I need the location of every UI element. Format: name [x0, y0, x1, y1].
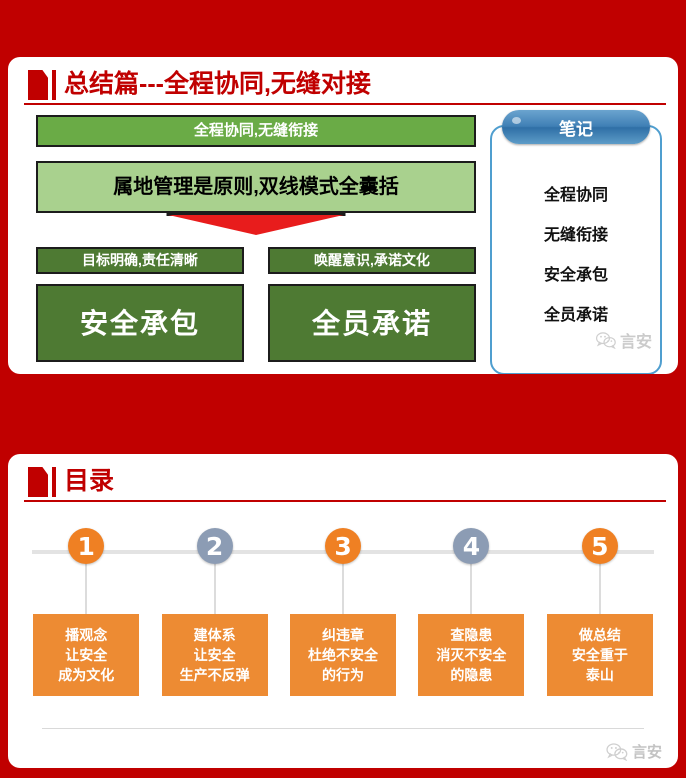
down-arrow-icon	[36, 213, 476, 241]
toc-label-box: 播观念 让安全 成为文化	[33, 614, 139, 696]
slide-toc-panel: 目录 1 播观念 让安全 成为文化	[8, 454, 678, 768]
slide-summary-panel: 总结篇---全程协同,无缝对接 全程协同,无缝衔接 属地管理是原则,双线模式全囊…	[8, 57, 678, 374]
watermark-text: 言安	[620, 328, 652, 352]
page-title: 目录	[64, 462, 114, 500]
toc-connector	[470, 564, 472, 614]
toc-label-line: 成为文化	[58, 665, 114, 685]
toc-item-4[interactable]: 4 查隐患 消灭不安全 的隐患	[407, 506, 535, 766]
toc-item-3[interactable]: 3 纠违章 杜绝不安全 的行为	[279, 506, 407, 766]
toc-connector	[214, 564, 216, 614]
toc-footer-divider	[42, 728, 644, 729]
slide-toc-titlebar: 目录	[20, 462, 666, 506]
notes-badge: 笔记	[502, 110, 650, 144]
toc-timeline: 1 播观念 让安全 成为文化 2 建体系	[22, 506, 664, 766]
slide-summary: 总结篇---全程协同,无缝对接 全程协同,无缝衔接 属地管理是原则,双线模式全囊…	[0, 0, 686, 392]
bookmark-flag-icon	[28, 70, 48, 100]
summary-flow: 全程协同,无缝衔接 属地管理是原则,双线模式全囊括 目标明确,责任清晰 安全承包…	[36, 115, 476, 362]
notes-list: 全程协同 无缝衔接 安全承包 全员承诺	[492, 181, 660, 325]
flow-subtitle-1: 目标明确,责任清晰	[36, 247, 244, 274]
toc-label-line: 的隐患	[450, 665, 492, 685]
slide-summary-body: 全程协同,无缝衔接 属地管理是原则,双线模式全囊括 目标明确,责任清晰 安全承包…	[8, 107, 678, 374]
wechat-icon	[606, 743, 628, 761]
wechat-icon	[596, 332, 616, 349]
watermark-text: 言安	[632, 741, 662, 762]
flow-headline-2: 全员承诺	[268, 284, 476, 362]
toc-connector	[342, 564, 344, 614]
flow-column-1: 目标明确,责任清晰 安全承包	[36, 247, 244, 362]
toc-label-line: 纠违章	[322, 625, 364, 645]
bookmark-flag-icon	[28, 467, 48, 497]
flow-column-2: 唤醒意识,承诺文化 全员承诺	[268, 247, 476, 362]
toc-label-box: 查隐患 消灭不安全 的隐患	[418, 614, 524, 696]
flow-header-box: 全程协同,无缝衔接	[36, 115, 476, 147]
toc-label-line: 建体系	[194, 625, 236, 645]
title-accent-bar-icon	[52, 467, 56, 497]
slide-summary-titlebar: 总结篇---全程协同,无缝对接	[20, 65, 666, 109]
notes-item: 无缝衔接	[544, 221, 608, 245]
wechat-watermark: 言安	[606, 741, 662, 762]
toc-connector	[85, 564, 87, 614]
toc-label-line: 泰山	[586, 665, 614, 685]
toc-label-line: 的行为	[322, 665, 364, 685]
notes-item: 安全承包	[544, 261, 608, 285]
toc-nodes: 1 播观念 让安全 成为文化 2 建体系	[22, 506, 664, 766]
toc-item-5[interactable]: 5 做总结 安全重于 泰山	[536, 506, 664, 766]
flow-subtitle-2: 唤醒意识,承诺文化	[268, 247, 476, 274]
slide-toc: 目录 1 播观念 让安全 成为文化	[0, 392, 686, 778]
toc-item-1[interactable]: 1 播观念 让安全 成为文化	[22, 506, 150, 766]
toc-label-line: 消灭不安全	[436, 645, 506, 665]
flow-headline-1: 安全承包	[36, 284, 244, 362]
toc-label-line: 查隐患	[450, 625, 492, 645]
toc-label-line: 杜绝不安全	[308, 645, 378, 665]
toc-number-badge: 3	[325, 528, 361, 564]
toc-label-line: 让安全	[65, 645, 107, 665]
toc-label-box: 做总结 安全重于 泰山	[547, 614, 653, 696]
toc-number-badge: 1	[68, 528, 104, 564]
toc-label-line: 做总结	[579, 625, 621, 645]
toc-number-badge: 4	[453, 528, 489, 564]
toc-label-line: 让安全	[194, 645, 236, 665]
title-divider	[24, 103, 666, 105]
notes-item: 全员承诺	[544, 301, 608, 325]
toc-label-line: 播观念	[65, 625, 107, 645]
toc-item-2[interactable]: 2 建体系 让安全 生产不反弹	[150, 506, 278, 766]
toc-number-badge: 2	[197, 528, 233, 564]
slide-deck: 总结篇---全程协同,无缝对接 全程协同,无缝衔接 属地管理是原则,双线模式全囊…	[0, 0, 686, 778]
toc-connector	[599, 564, 601, 614]
toc-label-line: 安全重于	[572, 645, 628, 665]
flow-main-box: 属地管理是原则,双线模式全囊括	[36, 161, 476, 213]
page-title: 总结篇---全程协同,无缝对接	[64, 65, 371, 103]
wechat-watermark: 言安	[596, 328, 652, 352]
toc-label-line: 生产不反弹	[180, 665, 250, 685]
flow-columns: 目标明确,责任清晰 安全承包 唤醒意识,承诺文化 全员承诺	[36, 247, 476, 362]
title-divider	[24, 500, 666, 502]
toc-number-badge: 5	[582, 528, 618, 564]
title-accent-bar-icon	[52, 70, 56, 100]
toc-label-box: 纠违章 杜绝不安全 的行为	[290, 614, 396, 696]
slide-toc-body: 1 播观念 让安全 成为文化 2 建体系	[8, 506, 678, 768]
toc-label-box: 建体系 让安全 生产不反弹	[162, 614, 268, 696]
notes-item: 全程协同	[544, 181, 608, 205]
